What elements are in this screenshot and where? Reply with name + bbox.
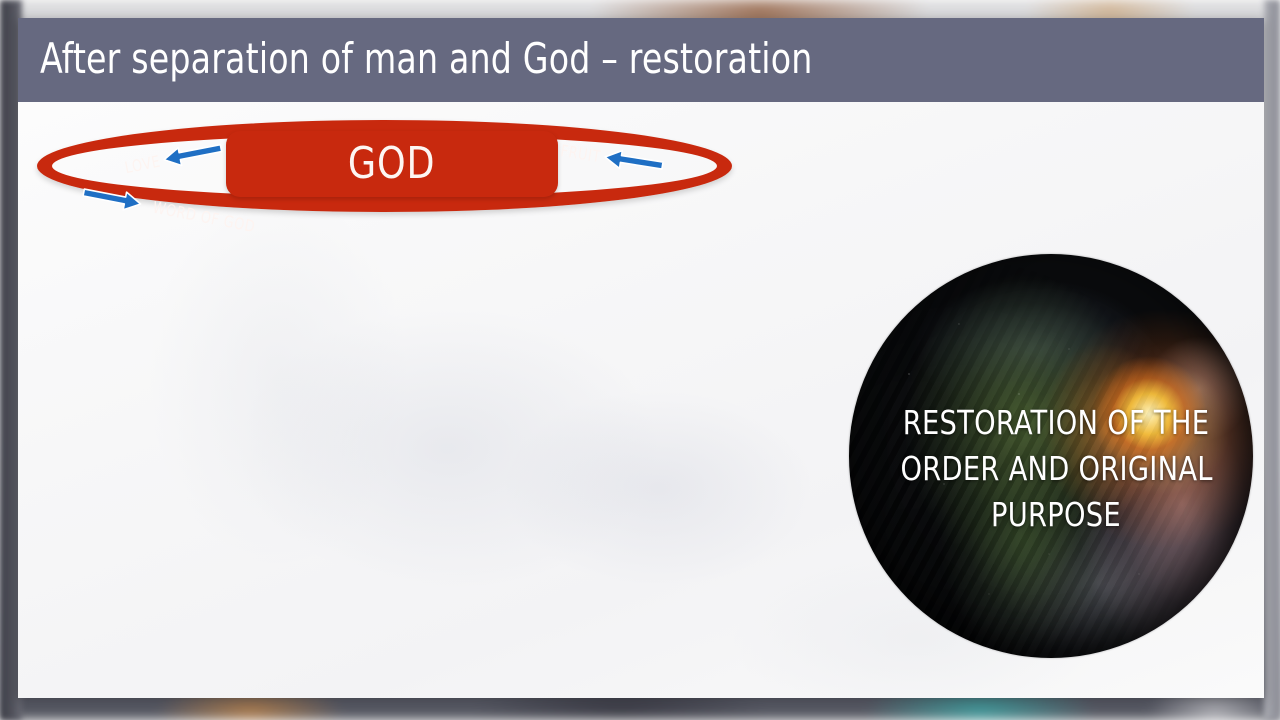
presentation-slide: After separation of man and God – restor…	[18, 18, 1264, 698]
slide-title: After separation of man and God – restor…	[40, 31, 812, 87]
slide-title-bar: After separation of man and God – restor…	[18, 18, 1264, 102]
restoration-cycle-diagram: GOD LOVE FRUIT WORD OF GOD	[18, 102, 778, 252]
god-box: GOD	[226, 131, 558, 197]
globe-caption-line-3: PURPOSE	[901, 492, 1212, 538]
backdrop-right-edge	[1264, 0, 1280, 720]
god-label: GOD	[348, 141, 436, 187]
globe-caption: RESTORATION OF THE ORDER AND ORIGINAL PU…	[901, 400, 1212, 538]
restoration-globe: RESTORATION OF THE ORDER AND ORIGINAL PU…	[849, 254, 1253, 658]
globe-caption-line-2: ORDER AND ORIGINAL	[901, 446, 1212, 492]
globe-caption-line-1: RESTORATION OF THE	[901, 400, 1212, 446]
